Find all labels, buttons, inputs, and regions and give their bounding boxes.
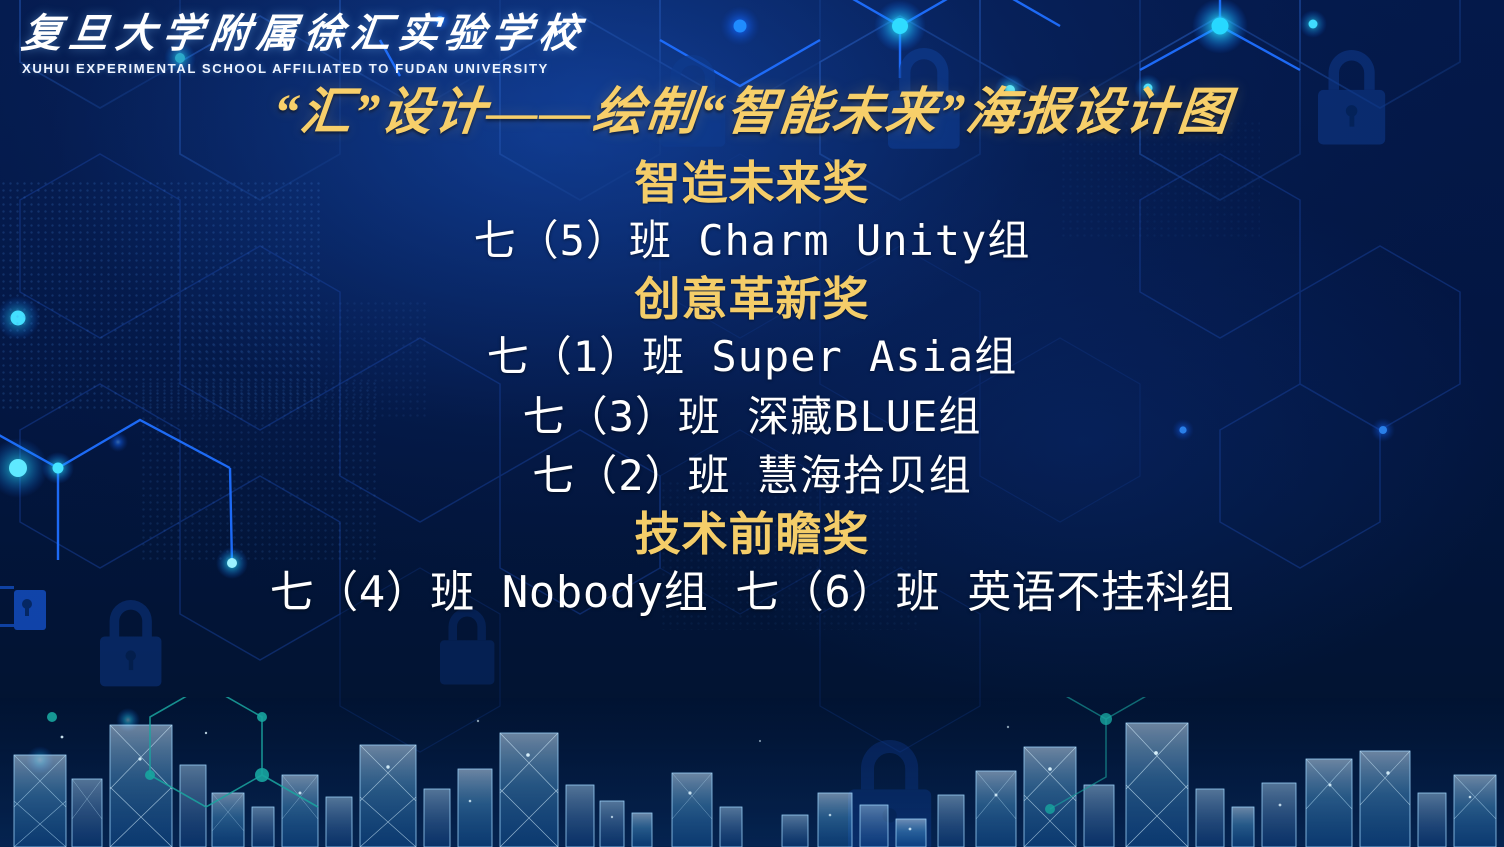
slide-canvas: 复旦大学附属徐汇实验学校 XUHUI EXPERIMENTAL SCHOOL A… (0, 0, 1504, 847)
award-section-0: 智造未来奖 七（5）班 Charm Unity组 (0, 155, 1504, 271)
award-winner: 七（1）班 Super Asia组 (0, 327, 1504, 387)
school-name-en: XUHUI EXPERIMENTAL SCHOOL AFFILIATED TO … (22, 61, 542, 76)
award-winner: 七（2）班 慧海拾贝组 (0, 446, 1504, 506)
wireframe-city-skyline (0, 697, 1504, 847)
slide-content: “汇”设计——绘制“智能未来”海报设计图 智造未来奖 七（5）班 Charm U… (0, 86, 1504, 624)
award-winner: 七（5）班 Charm Unity组 (0, 211, 1504, 271)
award-title: 智造未来奖 (0, 155, 1504, 211)
award-title: 创意革新奖 (0, 271, 1504, 327)
award-section-2: 技术前瞻奖 七（4）班 Nobody组 七（6）班 英语不挂科组 (0, 506, 1504, 625)
award-section-1: 创意革新奖 七（1）班 Super Asia组 七（3）班 深藏BLUE组 七（… (0, 271, 1504, 506)
school-name-cn: 复旦大学附属徐汇实验学校 (19, 10, 545, 57)
award-winner: 七（4）班 Nobody组 七（6）班 英语不挂科组 (0, 562, 1504, 624)
page-title: “汇”设计——绘制“智能未来”海报设计图 (0, 86, 1504, 141)
school-logo: 复旦大学附属徐汇实验学校 XUHUI EXPERIMENTAL SCHOOL A… (22, 10, 542, 76)
award-winner: 七（3）班 深藏BLUE组 (0, 387, 1504, 447)
award-title: 技术前瞻奖 (0, 506, 1504, 562)
